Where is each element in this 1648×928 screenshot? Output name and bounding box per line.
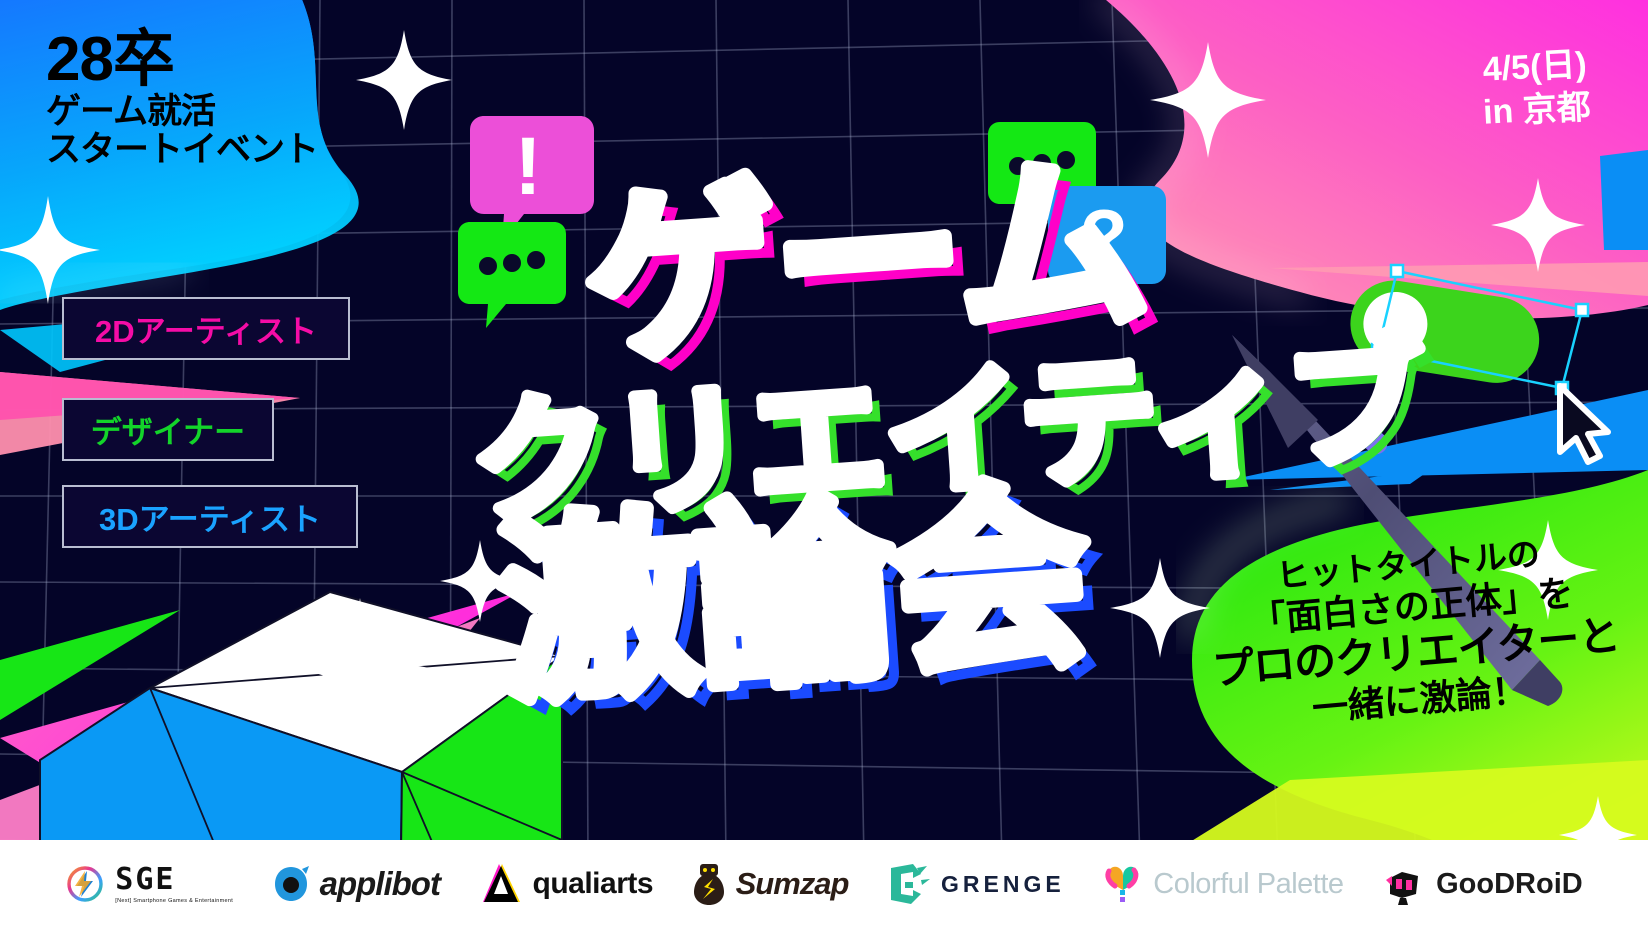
sge-logo: SGE [Next] Smartphone Games & Entertainm… [65,864,233,904]
left-heading-line1: 28卒 [46,28,318,92]
sumzap-mark-icon [692,862,726,906]
question-bubble: ? [1042,186,1172,310]
poster-stage: ! ? 28卒 ゲーム就活 スタートイベント 2Dアーティスト デザイナー 3D… [0,0,1648,928]
tag-label: デザイナー [91,407,245,452]
tag-designer: デザイナー [62,398,274,461]
date-venue-block: 4/5(日) in 京都 [1480,45,1592,133]
sumzap-logo: Sumzap [692,862,849,906]
goodroid-logo: GooDRoiD [1382,862,1583,906]
goodroid-mark-icon [1382,862,1426,906]
qualiarts-mark-icon [479,862,523,906]
grenge-mark-icon [887,862,931,906]
qualiarts-logo: qualiarts [479,862,654,906]
grenge-logo: GRENGE [887,862,1065,906]
sge-tagline: [Next] Smartphone Games & Entertainment [115,898,233,904]
sge-wordmark: SGE [115,865,233,895]
callout-block: ヒットタイトルの 「面白さの正体」を プロのクリエイターと 一緒に激論！ [1203,528,1625,739]
sparkle-icon [440,540,520,622]
ellipsis-bubble-a [452,222,572,332]
tag-3d-artist: 3Dアーティスト [62,485,358,548]
colorful-palette-wordmark: Colorful Palette [1153,868,1343,901]
tag-2d-artist: 2Dアーティスト [62,297,350,360]
left-heading-line2: ゲーム就活 [46,94,318,130]
blue-corner-shape [1600,150,1648,250]
colorful-palette-mark-icon [1103,862,1143,906]
sge-mark-icon [65,864,105,904]
sparkle-icon [356,30,452,130]
event-venue: in 京都 [1483,88,1593,133]
tag-label: 3Dアーティスト [99,494,321,539]
left-heading: 28卒 ゲーム就活 スタートイベント [46,28,318,168]
colorful-palette-logo: Colorful Palette [1103,862,1343,906]
sumzap-wordmark: Sumzap [736,866,849,902]
left-heading-line3: スタートイベント [46,132,318,168]
tag-label: 2Dアーティスト [95,306,317,351]
exclamation-bubble-glyph: ! [514,121,541,212]
applibot-logo: applibot [272,865,440,903]
grenge-wordmark: GRENGE [941,871,1065,898]
applibot-mark-icon [272,865,310,903]
question-bubble-glyph: ? [1080,193,1128,281]
sponsor-logo-bar: SGE [Next] Smartphone Games & Entertainm… [0,840,1648,928]
applibot-wordmark: applibot [320,865,440,903]
qualiarts-wordmark: qualiarts [533,867,654,901]
event-date: 4/5(日) [1480,45,1590,90]
goodroid-wordmark: GooDRoiD [1436,868,1583,901]
